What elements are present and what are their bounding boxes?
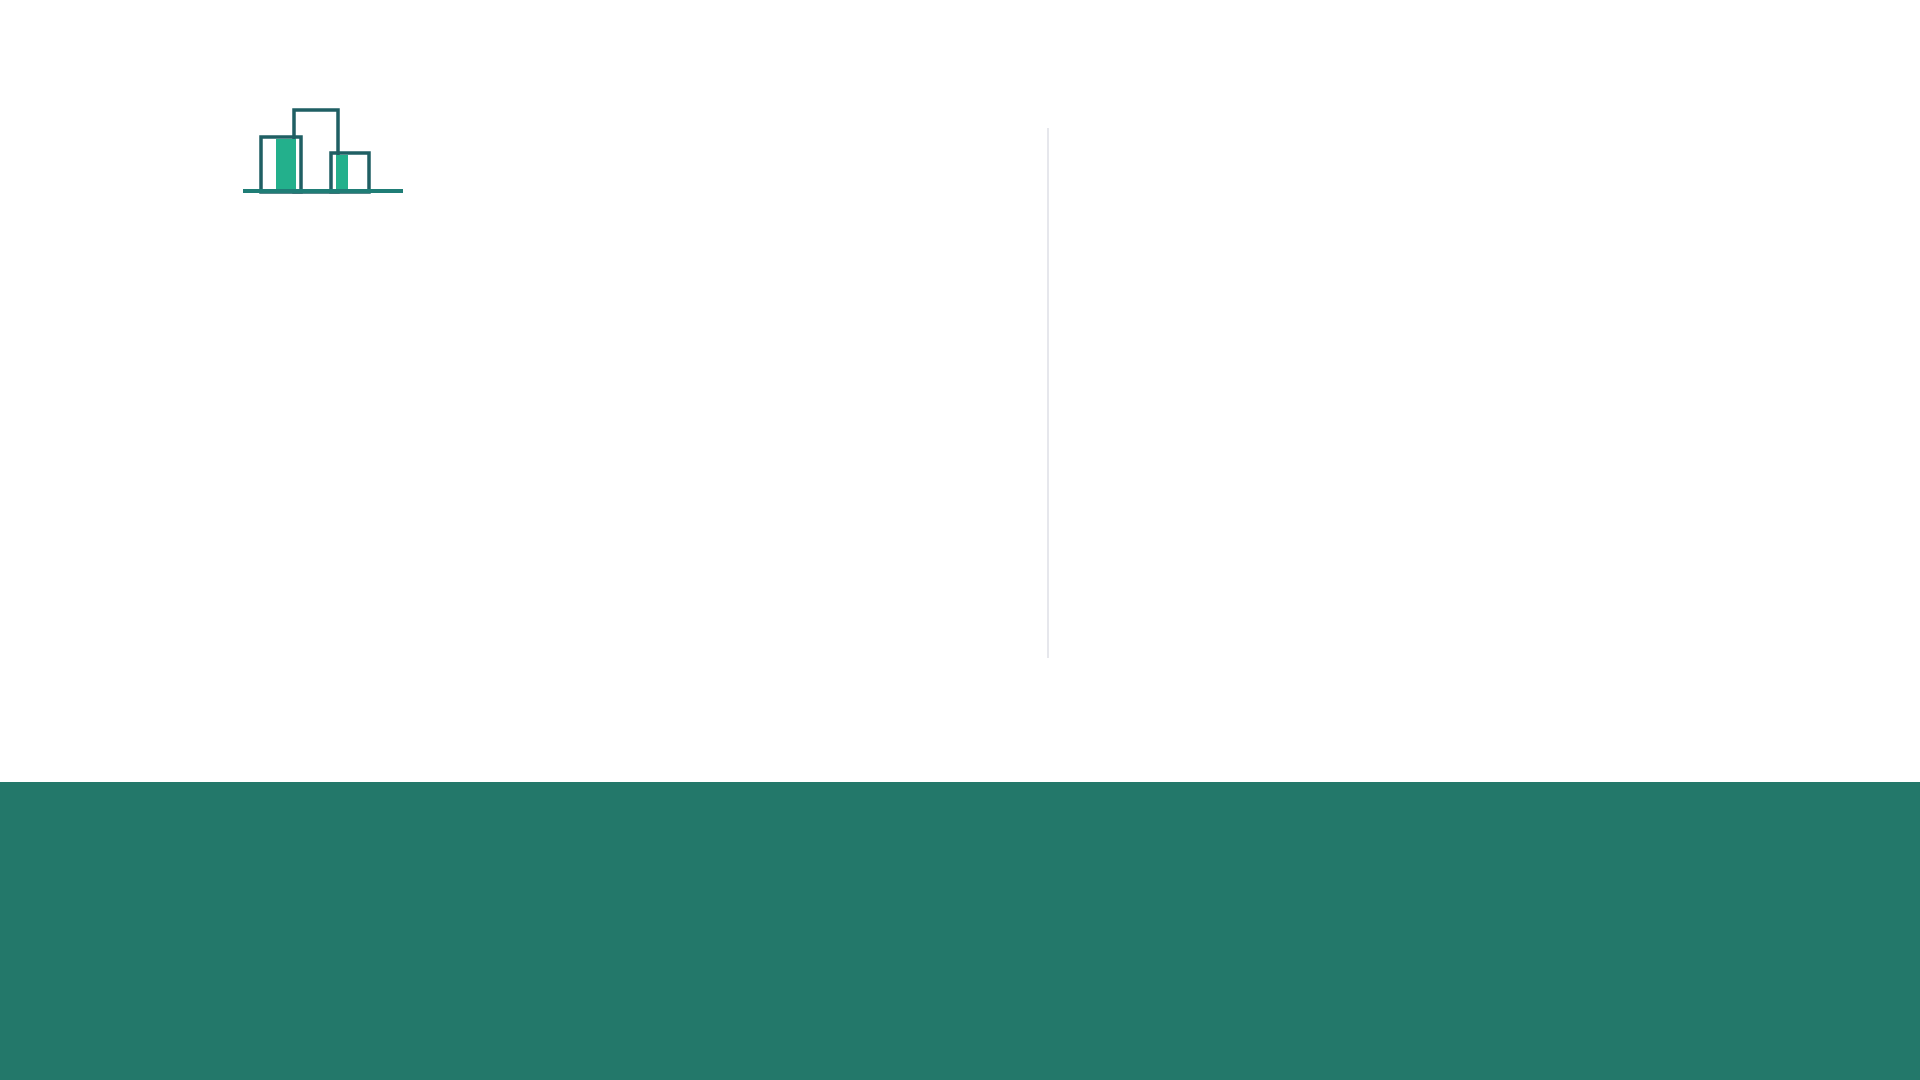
bar-chart-logo-icon — [243, 105, 423, 197]
company-logo — [133, 105, 423, 197]
pie-svg — [1215, 165, 1745, 695]
infographic-canvas — [0, 0, 1920, 1080]
bottom-green-band — [0, 782, 1920, 1080]
regional-share-pie-chart — [1215, 165, 1745, 695]
vertical-divider — [1047, 128, 1049, 658]
